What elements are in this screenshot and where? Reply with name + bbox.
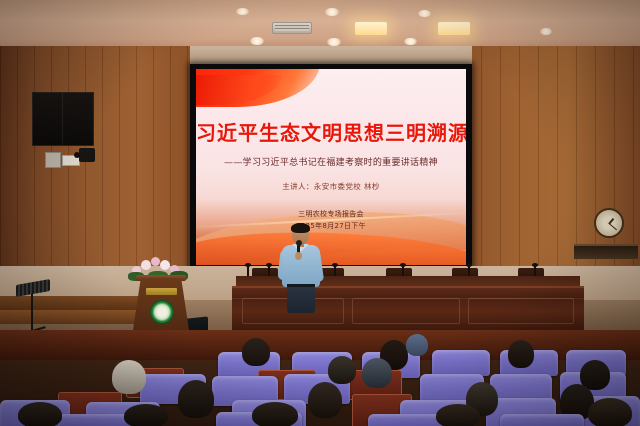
ceiling-downlight [250,37,264,45]
wall-clock [594,208,624,238]
audience-head [124,404,168,426]
audience-head [406,334,428,356]
table-front-panel [468,298,574,324]
ceiling-downlight [418,10,431,17]
wall-control-box [45,152,61,168]
audience-head [252,402,298,426]
presenter-trousers [287,285,315,313]
presenter-hand [295,252,302,260]
audience-head [436,404,480,426]
audience-head [178,380,214,418]
ceiling-downlight [327,38,341,46]
led-screen-bezel: 习近平生态文明思想三明溯源 ——学习习近平总书记在福建考察时的重要讲话精神 主讲… [190,64,472,270]
auditorium-photo: 习近平生态文明思想三明溯源 ——学习习近平总书记在福建考察时的重要讲话精神 主讲… [0,0,640,426]
music-stand-tripod [31,294,33,334]
audience-head [588,398,632,426]
ceiling-air-vent [272,22,312,34]
table-front-panel [352,298,460,324]
ceiling-panel-light [438,22,470,35]
audience-seat [500,414,584,426]
audience-head [508,340,534,368]
slide-event-line: 三明农校专场报告会 [196,209,466,219]
audience-head [18,402,62,426]
podium-name-plaque [146,288,177,295]
slide-date-line: 2025年8月27日下午 [196,221,466,231]
wall-camera [79,148,95,162]
presenter-with-microphone [278,224,324,310]
audience-seat [432,350,490,376]
wall-ledge-shelf [574,244,638,259]
clock-minute-hand [609,223,617,230]
presenter-hair [291,223,310,233]
slide-text-block: 习近平生态文明思想三明溯源 ——学习习近平总书记在福建考察时的重要讲话精神 主讲… [196,69,466,265]
led-presentation-screen: 习近平生态文明思想三明溯源 ——学习习近平总书记在福建考察时的重要讲话精神 主讲… [196,69,466,265]
audience-head [308,382,342,418]
stage-step [0,310,150,324]
slide-title: 习近平生态文明思想三明溯源 [196,117,466,146]
slide-subtitle: ——学习习近平总书记在福建考察时的重要讲话精神 [196,155,466,168]
audience-head [112,360,146,394]
ceiling-downlight [325,8,339,16]
flower [151,257,160,266]
slide-speaker-line: 主讲人：永安市委党校 林杪 [196,181,466,192]
ceiling-downlight [540,28,552,35]
ceiling-panel-light [355,22,387,35]
presenter-belt [287,284,315,287]
audience-head [362,358,392,388]
audience-head [328,356,356,384]
ceiling-downlight [236,8,249,15]
flower [141,260,151,270]
audience-area [0,330,640,426]
school-emblem [150,300,174,324]
audience-head [242,338,270,366]
wall-mounted-speaker [32,92,94,146]
ceiling [0,0,640,52]
flower [160,260,170,270]
ceiling-downlight [404,38,417,45]
